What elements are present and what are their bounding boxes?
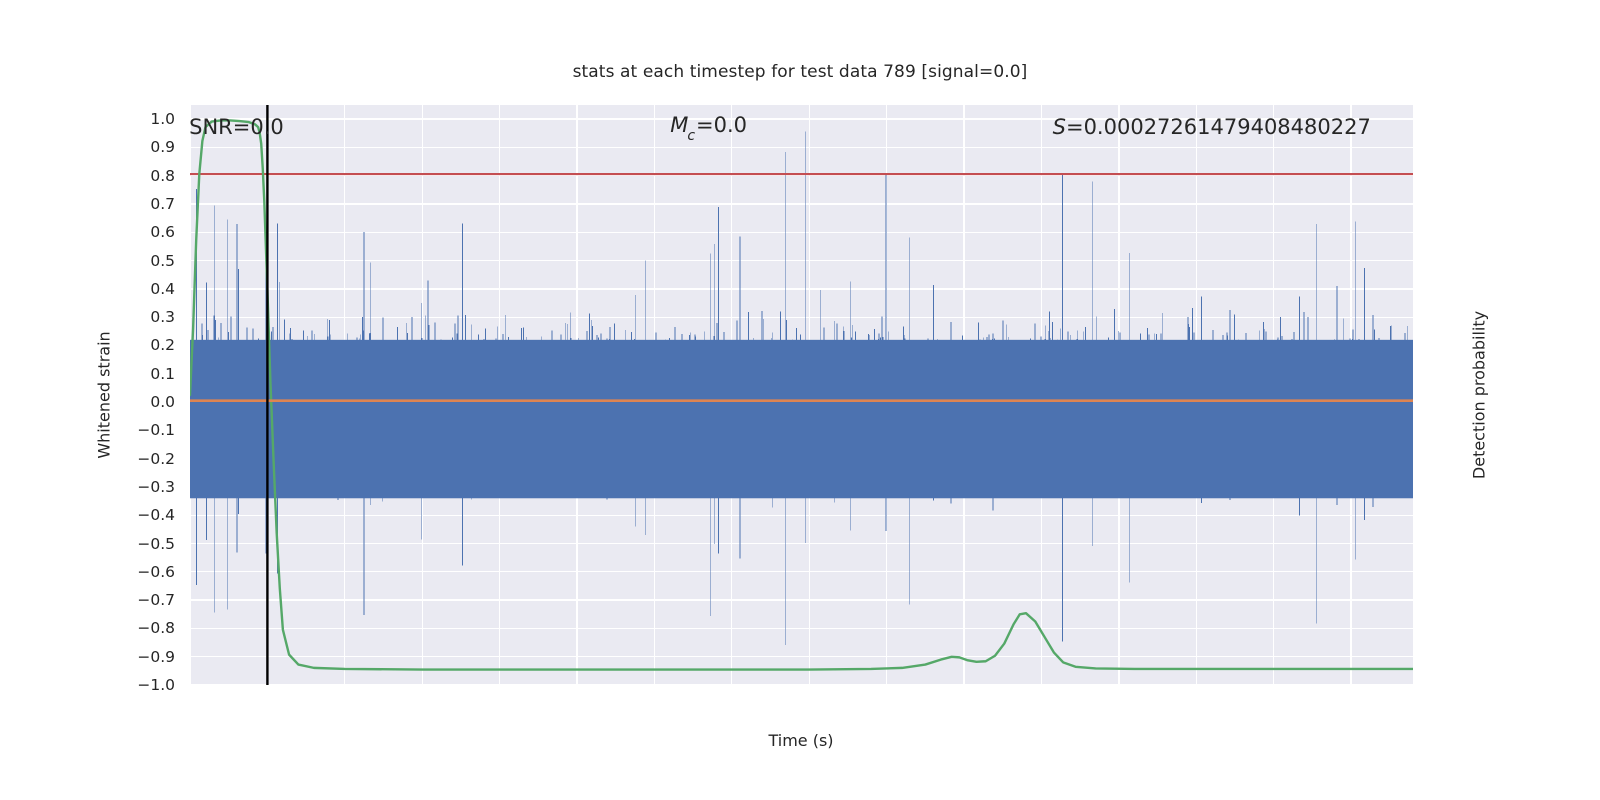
y-axis-tick-left: 0.1 (120, 365, 175, 383)
y-axis-tick-left: 0.9 (120, 138, 175, 156)
y-axis-tick-left: −0.3 (120, 478, 175, 496)
y-axis-tick-left: 0.4 (120, 280, 175, 298)
annotation-snr: SNR=0.0 (190, 115, 284, 139)
y-axis-tick-left: 0.0 (120, 393, 175, 411)
y-axis-tick-left: 0.7 (120, 195, 175, 213)
y-axis-tick-left: −0.2 (120, 450, 175, 468)
y-axis-label-right: Detection probability (1470, 311, 1489, 479)
y-axis-tick-left: −0.9 (120, 648, 175, 666)
y-axis-tick-left: −0.4 (120, 506, 175, 524)
annotation-score: S=0.00027261479408480227 (1053, 115, 1371, 139)
y-axis-tick-left: −0.6 (120, 563, 175, 581)
y-axis-tick-left: −0.8 (120, 619, 175, 637)
y-axis-tick-left: 0.3 (120, 308, 175, 326)
y-axis-tick-left: 0.5 (120, 252, 175, 270)
y-axis-tick-left: 0.8 (120, 167, 175, 185)
y-axis-label-left: Whitened strain (95, 331, 114, 458)
page-title: stats at each timestep for test data 789… (0, 62, 1600, 82)
y-axis-tick-left: 0.2 (120, 336, 175, 354)
plot-area: SNR=0.0 Mc=0.0 S=0.00027261479408480227 … (190, 105, 1413, 685)
y-axis-tick-left: −0.1 (120, 421, 175, 439)
y-axis-tick-left: −1.0 (120, 676, 175, 694)
annotation-chirp-mass: Mc=0.0 (670, 113, 747, 141)
x-axis-label: Time (s) (768, 731, 833, 750)
y-axis-tick-left: 0.6 (120, 223, 175, 241)
y-axis-tick-left: −0.7 (120, 591, 175, 609)
detection-probability-curve (190, 120, 1413, 669)
y-axis-tick-left: −0.5 (120, 535, 175, 553)
figure-canvas: stats at each timestep for test data 789… (0, 0, 1600, 800)
series-lines-layer (190, 105, 1413, 685)
y-axis-tick-left: 1.0 (120, 110, 175, 128)
